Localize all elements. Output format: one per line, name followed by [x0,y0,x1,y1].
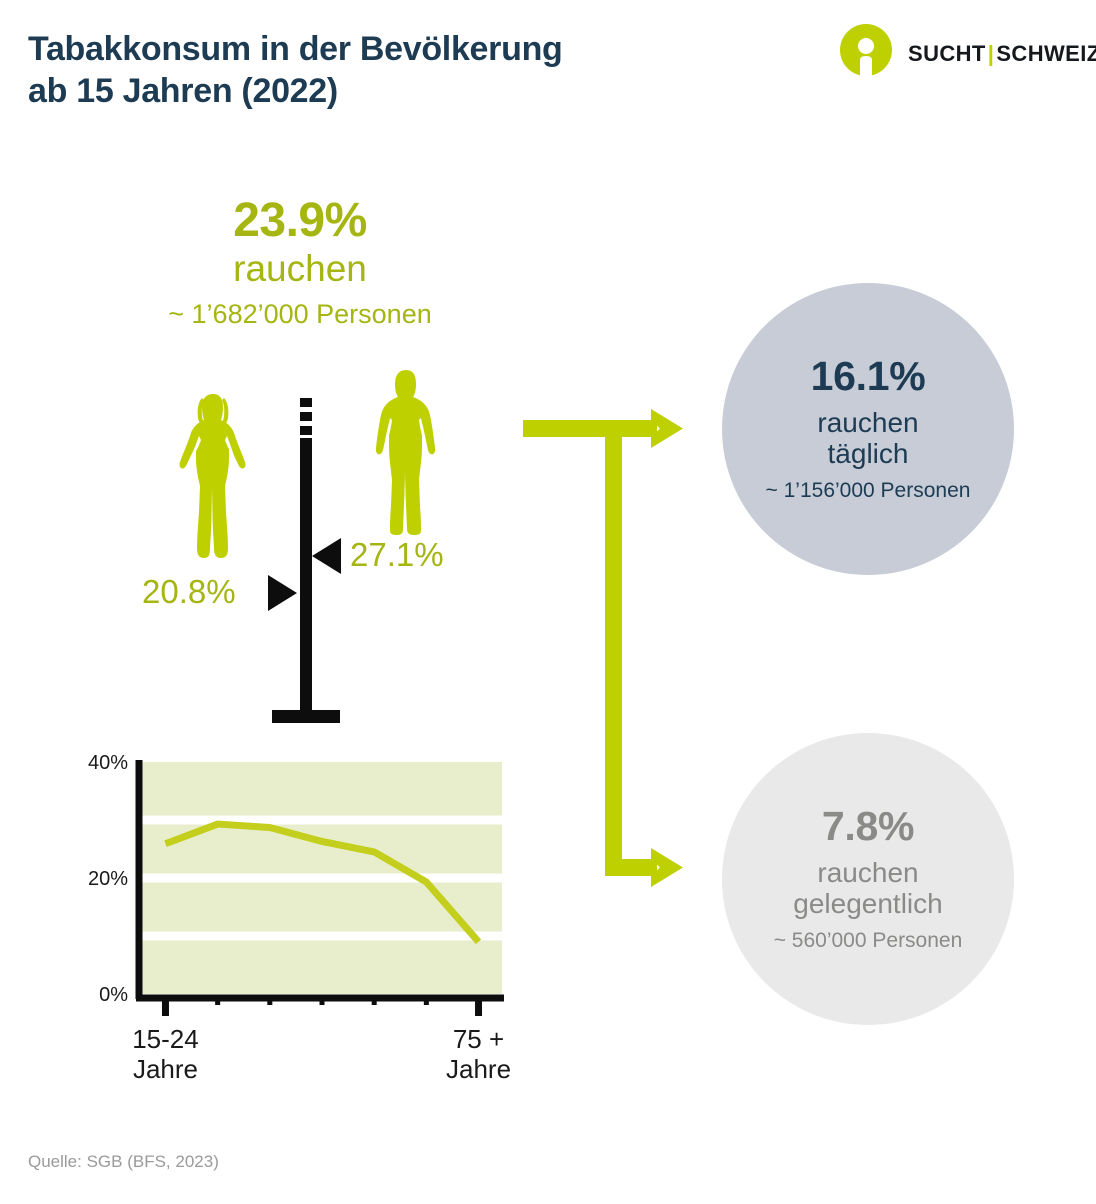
chart-x-tick-label: 75 + [453,1024,504,1054]
triangle-right-marker-icon [268,575,297,611]
daily-smokers-bubble: 16.1% rauchen täglich ~ 1’156’000 Person… [722,283,1014,575]
female-silhouette-icon [176,392,250,560]
pole-base [272,710,340,723]
infographic-root: Tabakkonsum in der Bevölkerung ab 15 Jah… [0,0,1096,1204]
page-title-line-1: Tabakkonsum in der Bevölkerung [28,28,788,70]
female-percent-label: 20.8% [142,573,236,611]
daily-label-line-1: rauchen [817,407,918,438]
brand-logo: SUCHT|SCHWEIZ [836,24,1086,86]
daily-label-line-2: täglich [828,438,909,469]
sucht-schweiz-person-logo-icon [836,24,896,84]
source-note: Quelle: SGB (BFS, 2023) [28,1152,219,1172]
age-line-chart: 0%20%40%15-24Jahre75 +Jahre [80,748,520,1088]
pole-solid-segment [300,438,312,720]
age-line-chart-svg: 0%20%40%15-24Jahre75 +Jahre [80,748,520,1088]
page-title-line-2: ab 15 Jahren (2022) [28,70,788,112]
lead-label: rauchen [20,249,580,290]
chart-y-tick-label: 0% [99,984,128,1006]
daily-absolute-count: ~ 1’156’000 Personen [766,478,971,503]
brand-logo-text: SUCHT|SCHWEIZ [908,41,1096,67]
lead-percent: 23.9% [20,196,580,247]
occasional-label-line-2: gelegentlich [793,888,942,919]
male-silhouette-icon [368,368,444,536]
triangle-left-marker-icon [312,538,341,574]
occasional-label-line-1: rauchen [817,857,918,888]
lead-statistic: 23.9% rauchen ~ 1’682’000 Personen [20,196,580,330]
chart-x-tick-label: Jahre [133,1054,198,1084]
male-percent-label: 27.1% [350,536,444,574]
brand-word-schweiz: SCHWEIZ [996,41,1096,66]
daily-percent: 16.1% [811,355,926,398]
page-title: Tabakkonsum in der Bevölkerung ab 15 Jah… [28,28,788,112]
branching-arrow-icon [505,395,705,905]
pole-dotted-segment [300,398,312,440]
brand-separator: | [986,41,997,66]
occasional-smokers-bubble: 7.8% rauchen gelegentlich ~ 560’000 Pers… [722,733,1014,1025]
lead-absolute-count: ~ 1’682’000 Personen [20,298,580,330]
brand-word-sucht: SUCHT [908,41,986,66]
chart-x-tick-label: 15-24 [132,1024,199,1054]
occasional-percent: 7.8% [822,805,914,848]
chart-x-tick-label: Jahre [446,1054,511,1084]
occasional-absolute-count: ~ 560’000 Personen [774,928,963,953]
chart-y-tick-label: 20% [88,868,128,890]
chart-y-tick-label: 40% [88,752,128,774]
